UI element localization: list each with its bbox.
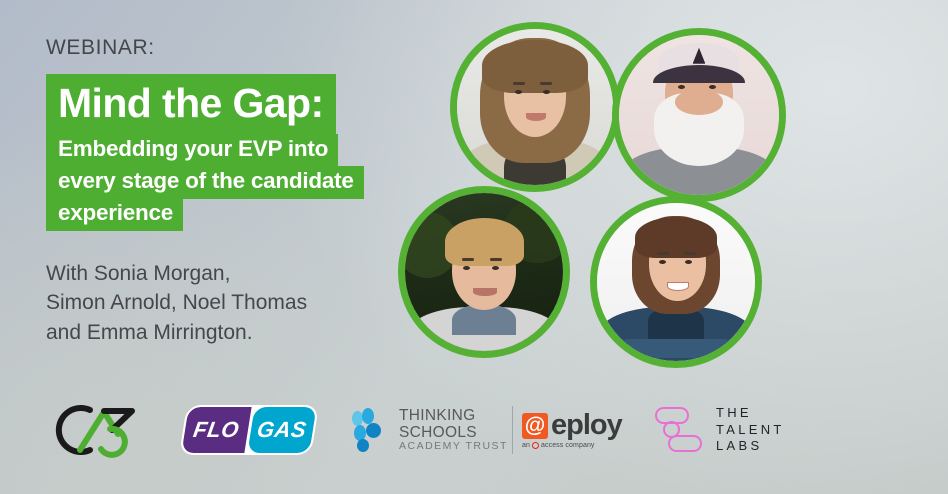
eploy-wordmark: eploy [551,411,622,440]
talent-labs-mark-icon [655,405,703,455]
access-dot-icon [532,442,539,449]
ca3-logo-svg [46,402,162,458]
eploy-logo-mark: @ eploy an access company [522,411,622,449]
talent-labs-line-1: THE [716,405,785,421]
eploy-wordmark-row: @ eploy [522,411,622,440]
portrait-noel-thomas [398,186,570,358]
headline-block: WEBINAR: Mind the Gap: Embedding your EV… [46,36,446,348]
thinking-schools-line-1: THINKING SCHOOLS [399,407,512,442]
presenter-line-2: Simon Arnold, Noel Thomas [46,288,446,318]
logo-divider [512,406,513,454]
thinking-schools-line-2: ACADEMY TRUST [399,441,512,453]
at-symbol-icon: @ [522,413,548,439]
presenter-line-1: With Sonia Morgan, [46,259,446,289]
portrait-sonia-morgan [450,22,620,192]
flogas-gas-text: GAS [247,407,317,453]
flogas-flo-text: FLO [181,407,251,453]
ca3-logo-mark [46,402,162,458]
eploy-tagline: an access company [522,442,595,449]
portrait-sonia-morgan-photo [457,29,613,185]
subtitle-line-2: every stage of the candidate [46,166,364,199]
the-talent-labs-logo: THE TALENT LABS [655,392,825,468]
portrait-simon-arnold-photo [619,35,779,195]
talent-labs-line-2: TALENT [716,422,785,438]
title-highlight-group: Mind the Gap: Embedding your EVP into ev… [46,74,446,231]
eploy-logo: @ eploy an access company [522,392,632,468]
portrait-emma-mirrington-photo [597,203,755,361]
webinar-eyebrow-label: WEBINAR: [46,36,446,60]
eploy-tagline-pre: an [522,442,530,449]
portrait-emma-mirrington [590,196,762,368]
portrait-simon-arnold [612,28,786,202]
ca3-logo [46,392,174,468]
subtitle-line-1: Embedding your EVP into [46,134,338,167]
portrait-noel-thomas-photo [405,193,563,351]
partner-logo-strip: FLO GAS THINKING SCHOOLS ACADEMY TRUST [0,392,948,468]
presenter-credits: With Sonia Morgan, Simon Arnold, Noel Th… [46,259,446,348]
eploy-tagline-post: access company [541,442,595,449]
thinking-schools-wordmark: THINKING SCHOOLS ACADEMY TRUST [399,407,512,453]
flogas-logo: FLO GAS [185,392,320,468]
presenter-line-3: and Emma Mirrington. [46,318,446,348]
thinking-schools-dots-icon [352,408,390,452]
webinar-promo-banner: WEBINAR: Mind the Gap: Embedding your EV… [0,0,948,494]
flogas-logo-mark: FLO GAS [181,407,316,453]
thinking-schools-academy-trust-logo: THINKING SCHOOLS ACADEMY TRUST [352,392,512,468]
talent-labs-line-3: LABS [716,438,785,454]
page-title: Mind the Gap: [46,74,336,135]
talent-labs-wordmark: THE TALENT LABS [716,405,785,454]
subtitle-line-3: experience [46,198,183,231]
